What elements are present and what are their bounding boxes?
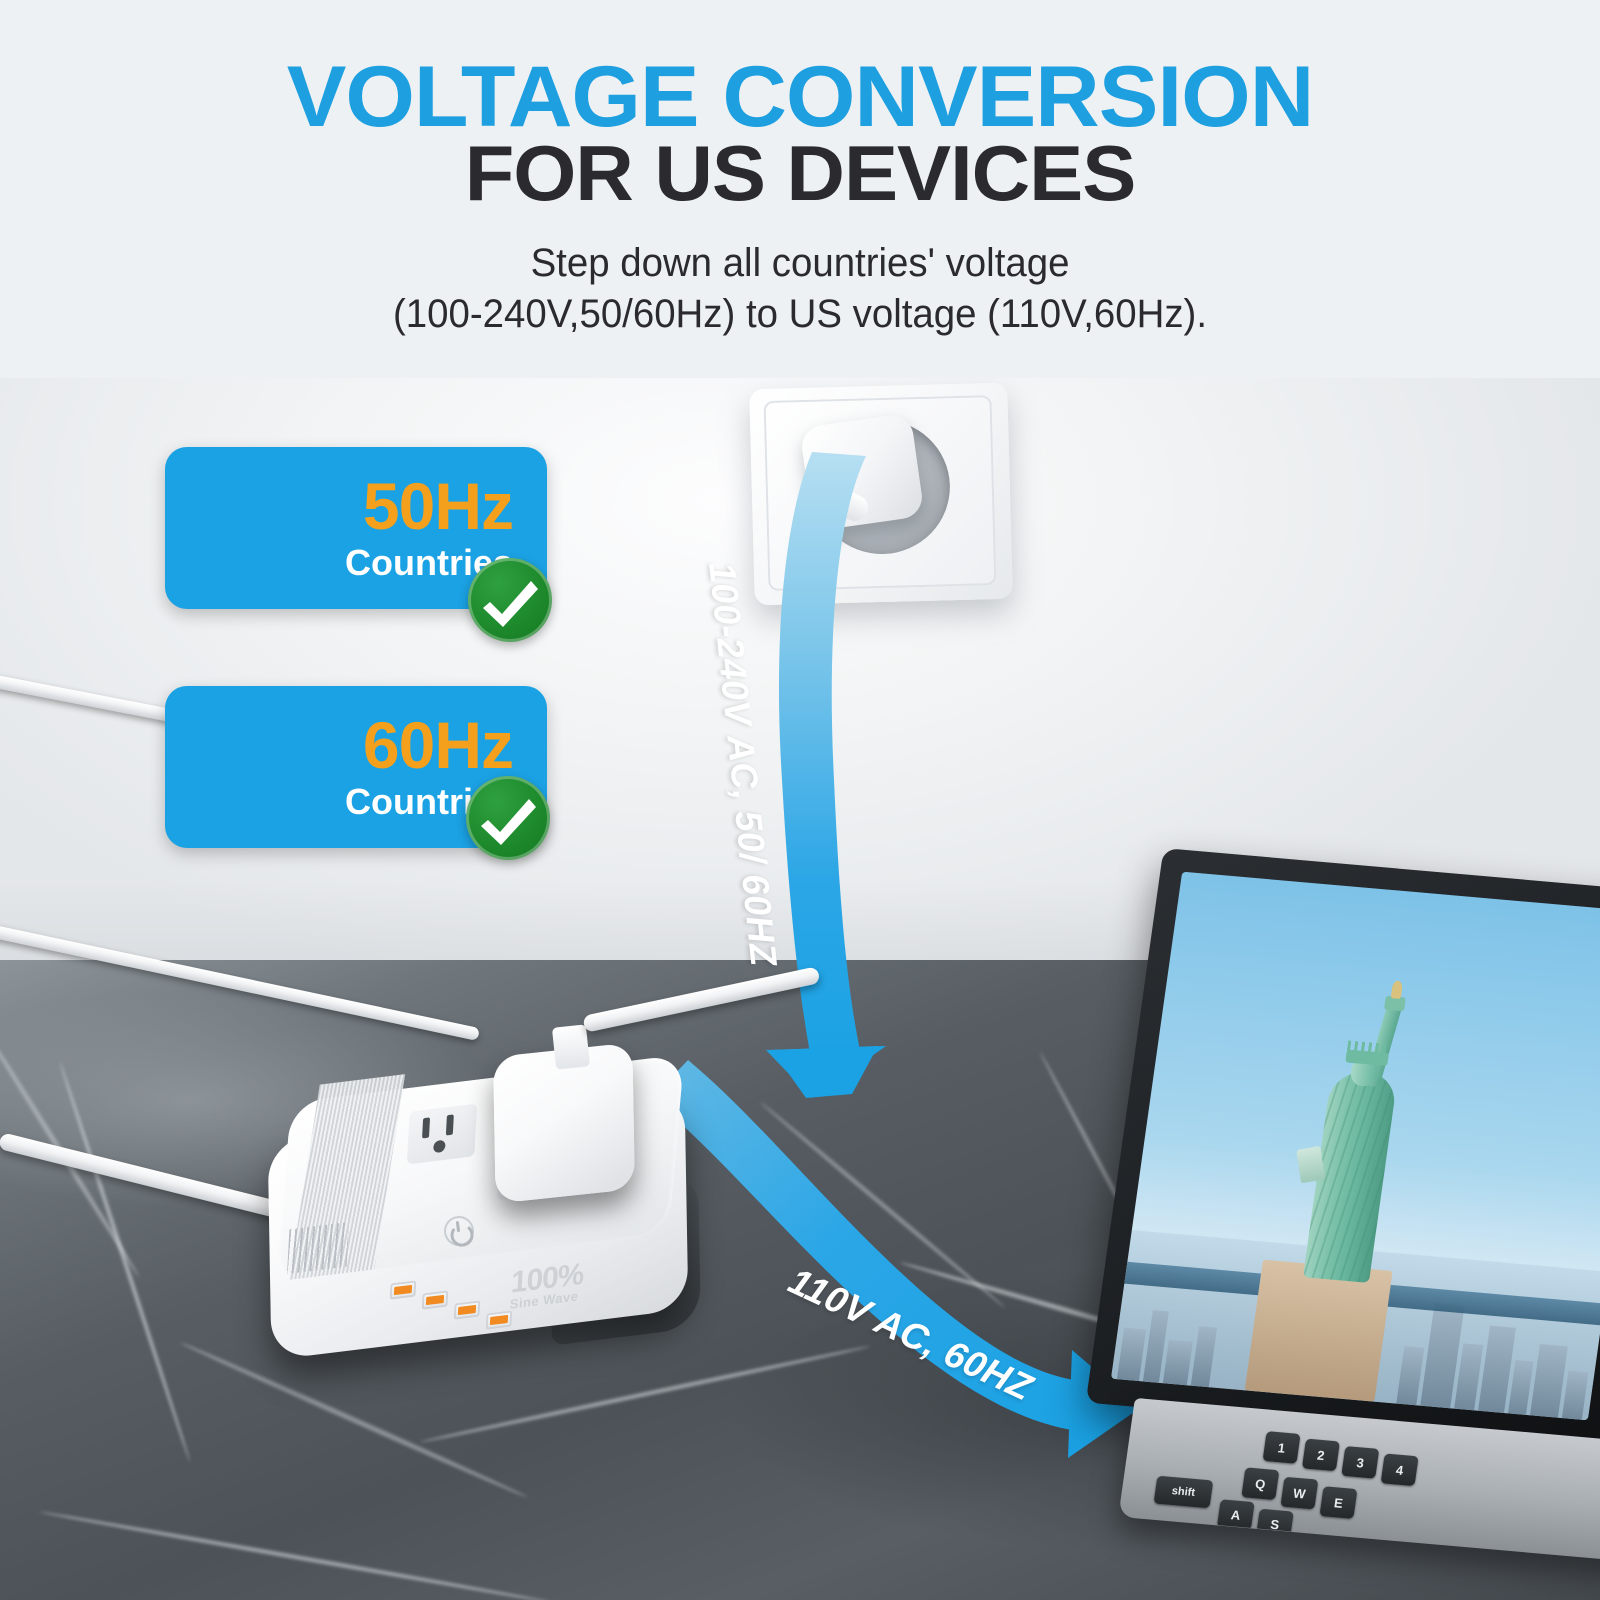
us-outlet[interactable] xyxy=(407,1103,477,1164)
key-shift[interactable]: shift xyxy=(1154,1476,1214,1509)
check-icon-50hz xyxy=(468,558,552,642)
product-infographic: VOLTAGE CONVERSION FOR US DEVICES Step d… xyxy=(0,0,1600,1600)
voltage-converter: 100% Sine Wave xyxy=(258,1020,738,1420)
check-icon-60hz xyxy=(466,776,550,860)
key-1[interactable]: 1 xyxy=(1263,1431,1301,1464)
key-q[interactable]: Q xyxy=(1241,1467,1279,1500)
statue-of-liberty xyxy=(1277,988,1433,1285)
adapter-prong xyxy=(552,1024,590,1069)
key-a[interactable]: A xyxy=(1217,1499,1255,1530)
statue-crown xyxy=(1345,1049,1389,1066)
key-2[interactable]: 2 xyxy=(1302,1439,1340,1472)
statue-tablet xyxy=(1296,1146,1325,1184)
input-arrow-head-2 xyxy=(772,1046,878,1098)
key-s[interactable]: S xyxy=(1256,1509,1294,1540)
page-title-secondary: FOR US DEVICES xyxy=(0,128,1600,219)
badge-60hz-value: 60Hz xyxy=(363,712,513,778)
key-w[interactable]: W xyxy=(1280,1477,1318,1510)
badge-50hz-value: 50Hz xyxy=(363,473,513,539)
key-4[interactable]: 4 xyxy=(1381,1453,1419,1486)
laptop: 1 2 3 4 shift Q W E A S xyxy=(1080,860,1600,1600)
page-subtitle: Step down all countries' voltage (100-24… xyxy=(32,238,1568,340)
usb-c-port[interactable] xyxy=(422,1290,449,1309)
key-3[interactable]: 3 xyxy=(1341,1446,1379,1479)
header-band: VOLTAGE CONVERSION FOR US DEVICES Step d… xyxy=(0,0,1600,378)
subtitle-line-2: (100-240V,50/60Hz) to US voltage (110V,6… xyxy=(32,289,1568,340)
usb-c-port[interactable] xyxy=(390,1280,417,1299)
key-e[interactable]: E xyxy=(1319,1486,1357,1519)
statue-torch xyxy=(1384,980,1408,1011)
laptop-screen xyxy=(1111,872,1600,1421)
converter-side-vent xyxy=(287,1222,349,1274)
subtitle-line-1: Step down all countries' voltage xyxy=(32,238,1568,289)
usb-a-port[interactable] xyxy=(454,1300,481,1319)
